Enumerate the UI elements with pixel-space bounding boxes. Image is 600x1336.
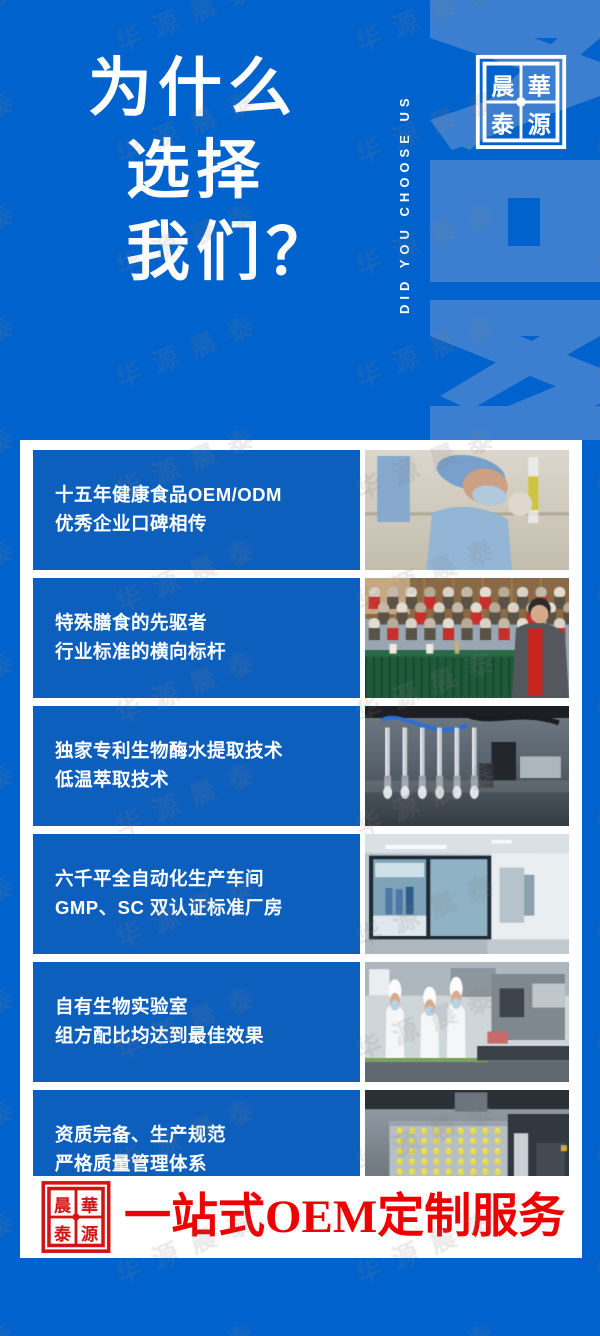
- svg-text:泰: 泰: [54, 1224, 72, 1245]
- feature-line-1: 独家专利生物酶水提取技术: [55, 737, 360, 766]
- company-seal-icon: 晨 華 泰 源: [473, 52, 569, 152]
- feature-line-2: 组方配比均达到最佳效果: [55, 1022, 360, 1051]
- feature-line-2: GMP、SC 双认证标准厂房: [55, 894, 360, 923]
- feature-row: 特殊膳食的先驱者行业标准的横向标杆: [33, 578, 569, 698]
- svg-text:晨: 晨: [54, 1196, 72, 1216]
- feature-line-1: 十五年健康食品OEM/ODM: [55, 481, 360, 510]
- feature-photo: [365, 578, 569, 698]
- title-line-2: 选择: [88, 130, 388, 212]
- feature-line-1: 自有生物实验室: [55, 993, 360, 1022]
- feature-text-block: 自有生物实验室组方配比均达到最佳效果: [33, 962, 360, 1082]
- feature-photo: [365, 706, 569, 826]
- title-line-3: 我们？: [88, 212, 388, 294]
- footer-seal-icon: 晨 華 泰 源: [40, 1180, 112, 1254]
- feature-row: 六千平全自动化生产车间GMP、SC 双认证标准厂房: [33, 834, 569, 954]
- feature-row: 自有生物实验室组方配比均达到最佳效果: [33, 962, 569, 1082]
- feature-photo: [365, 962, 569, 1082]
- feature-row: 独家专利生物酶水提取技术低温萃取技术: [33, 706, 569, 826]
- feature-photo: [365, 834, 569, 954]
- title-line-1: 为什么: [88, 48, 388, 130]
- footer-slogan: 一站式OEM定制服务: [124, 1194, 565, 1241]
- feature-text-block: 十五年健康食品OEM/ODM优秀企业口碑相传: [33, 450, 360, 570]
- feature-text-block: 独家专利生物酶水提取技术低温萃取技术: [33, 706, 360, 826]
- feature-line-1: 资质完备、生产规范: [55, 1121, 360, 1150]
- poster-header: 为什么 选择 我们？ DID YOU CHOOSE US 晨 華 泰 源: [0, 0, 600, 440]
- feature-line-2: 严格质量管理体系: [55, 1150, 360, 1179]
- feature-text-block: 六千平全自动化生产车间GMP、SC 双认证标准厂房: [33, 834, 360, 954]
- feature-line-2: 低温萃取技术: [55, 766, 360, 795]
- page-title: 为什么 选择 我们？: [88, 48, 388, 294]
- feature-line-2: 行业标准的横向标杆: [55, 638, 360, 667]
- features-panel: 十五年健康食品OEM/ODM优秀企业口碑相传特殊膳食的先驱者行业标准的横向标杆独…: [20, 440, 582, 1250]
- feature-line-1: 六千平全自动化生产车间: [55, 865, 360, 894]
- features-list: 十五年健康食品OEM/ODM优秀企业口碑相传特殊膳食的先驱者行业标准的横向标杆独…: [33, 450, 569, 1210]
- vertical-caption: DID YOU CHOOSE US: [397, 8, 421, 400]
- feature-row: 十五年健康食品OEM/ODM优秀企业口碑相传: [33, 450, 569, 570]
- feature-line-2: 优秀企业口碑相传: [55, 510, 360, 539]
- svg-text:華: 華: [81, 1196, 98, 1216]
- feature-line-1: 特殊膳食的先驱者: [55, 609, 360, 638]
- feature-photo: [365, 450, 569, 570]
- poster-root: 为什么 选择 我们？ DID YOU CHOOSE US 晨 華 泰 源: [0, 0, 600, 1336]
- svg-text:晨: 晨: [491, 74, 515, 100]
- svg-text:泰: 泰: [490, 112, 515, 139]
- svg-text:華: 華: [528, 73, 551, 100]
- feature-text-block: 特殊膳食的先驱者行业标准的横向标杆: [33, 578, 360, 698]
- svg-text:源: 源: [81, 1224, 98, 1245]
- svg-text:源: 源: [528, 113, 551, 139]
